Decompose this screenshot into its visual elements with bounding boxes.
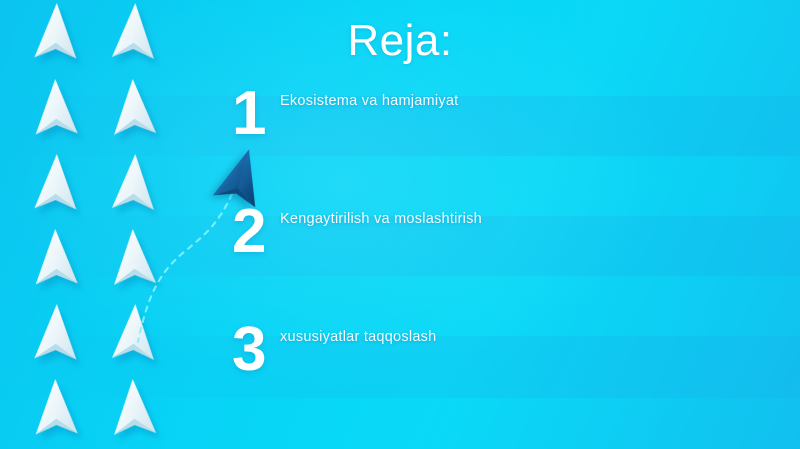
paper-plane-icon — [29, 77, 83, 140]
agenda-item-number: 2 — [232, 200, 278, 264]
agenda-item-label: Ekosistema va hamjamiyat — [280, 93, 458, 109]
paper-plane-icon — [107, 377, 162, 441]
agenda-item: 2Kengaytirilish va moslashtirish — [232, 200, 772, 318]
paper-plane-icon — [107, 302, 162, 366]
agenda-item: 3xususiyatlar taqqoslash — [232, 318, 772, 436]
paper-plane-icon — [29, 302, 83, 365]
paper-plane-icon — [29, 152, 83, 215]
paper-plane-icon — [107, 77, 162, 141]
agenda-item: 1Ekosistema va hamjamiyat — [232, 82, 772, 200]
agenda-item-label: Kengaytirilish va moslashtirish — [280, 211, 482, 227]
page-title: Reja: — [0, 16, 800, 66]
paper-plane-icon — [29, 377, 83, 440]
agenda-list: 1Ekosistema va hamjamiyat2Kengaytirilish… — [232, 82, 772, 436]
paper-plane-icon — [107, 152, 162, 216]
paper-plane-grid — [0, 0, 200, 449]
agenda-item-number: 3 — [232, 318, 278, 382]
presentation-slide: Reja: 1Ekosistema va hamjamiyat2Kengayti… — [0, 0, 800, 449]
agenda-item-label: xususiyatlar taqqoslash — [280, 329, 436, 345]
agenda-item-number: 1 — [232, 82, 278, 146]
paper-plane-icon — [107, 227, 162, 291]
paper-plane-icon — [29, 227, 83, 290]
